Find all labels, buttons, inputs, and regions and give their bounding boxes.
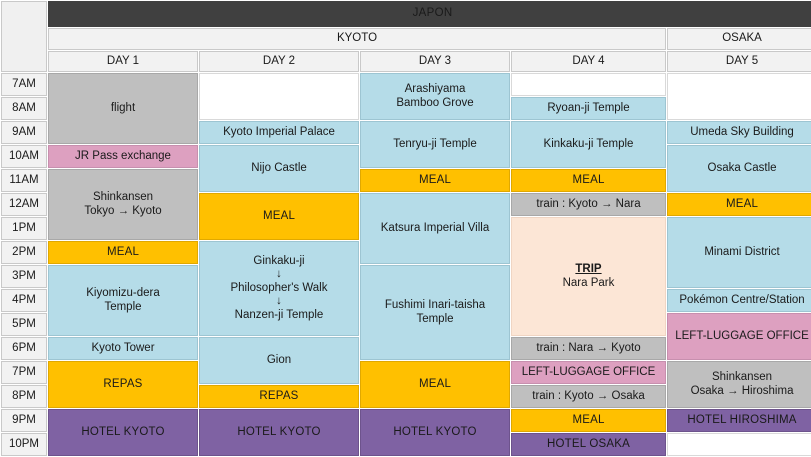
- time-label-8pm: 8PM: [1, 385, 47, 408]
- day5-empty-cell: [667, 433, 811, 456]
- cell-line: Temple: [363, 313, 507, 327]
- day-header-4[interactable]: DAY 4: [511, 51, 666, 72]
- d5-shinkansen[interactable]: ShinkansenOsaka → Hiroshima: [667, 361, 811, 408]
- d5-luggage[interactable]: LEFT-LUGGAGE OFFICE: [667, 313, 811, 360]
- d1-meal1[interactable]: MEAL: [48, 241, 198, 264]
- d5-minami[interactable]: Minami District: [667, 217, 811, 288]
- d1-hotel[interactable]: HOTEL KYOTO: [48, 409, 198, 456]
- cell-line: Arashiyama: [363, 83, 507, 97]
- time-label-8am: 8AM: [1, 97, 47, 120]
- time-label-2pm: 2PM: [1, 241, 47, 264]
- d4-train2[interactable]: train : Nara → Kyoto: [511, 337, 666, 360]
- time-label-5pm: 5PM: [1, 313, 47, 336]
- day-header-3[interactable]: DAY 3: [360, 51, 510, 72]
- d3-meal1[interactable]: MEAL: [360, 169, 510, 192]
- time-label-7am: 7AM: [1, 73, 47, 96]
- travel-itinerary-planner: JAPONKYOTOOSAKADAY 1DAY 2DAY 3DAY 4DAY 5…: [0, 0, 811, 438]
- time-label-9pm: 9PM: [1, 409, 47, 432]
- d1-jrpass[interactable]: JR Pass exchange: [48, 145, 198, 168]
- d1-kyototower[interactable]: Kyoto Tower: [48, 337, 198, 360]
- cell-line: Philosopher's Walk: [202, 282, 356, 296]
- header-row-regions: KYOTOOSAKA: [1, 28, 811, 50]
- day-header-5[interactable]: DAY 5: [667, 51, 811, 72]
- d4-empty: [511, 73, 666, 96]
- d5-hotel[interactable]: HOTEL HIROSHIMA: [667, 409, 811, 432]
- cell-line: Osaka → Hiroshima: [670, 385, 811, 399]
- d2-empty: [199, 73, 359, 120]
- time-label-11am: 11AM: [1, 169, 47, 192]
- d3-katsura[interactable]: Katsura Imperial Villa: [360, 193, 510, 264]
- cell-line: ↓: [202, 268, 356, 282]
- region-label-osaka: OSAKA: [667, 28, 811, 50]
- cell-line: Bamboo Grove: [363, 97, 507, 111]
- cell-line: Nanzen-ji Temple: [202, 309, 356, 323]
- schedule-row: 9PMHOTEL KYOTOHOTEL KYOTOHOTEL KYOTOMEAL…: [1, 409, 811, 432]
- schedule-row: 7PMREPASMEALLEFT-LUGGAGE OFFICEShinkanse…: [1, 361, 811, 384]
- d3-fushimi[interactable]: Fushimi Inari-taishaTemple: [360, 265, 510, 360]
- d5-pokemon[interactable]: Pokémon Centre/Station: [667, 289, 811, 312]
- time-label-6pm: 6PM: [1, 337, 47, 360]
- d1-kiyomizu[interactable]: Kiyomizu-deraTemple: [48, 265, 198, 336]
- d1-shinkansen[interactable]: ShinkansenTokyo → Kyoto: [48, 169, 198, 240]
- d4-hotel[interactable]: HOTEL OSAKA: [511, 433, 666, 456]
- time-label-12am: 12AM: [1, 193, 47, 216]
- time-label-4pm: 4PM: [1, 289, 47, 312]
- d4-train3[interactable]: train : Kyoto → Osaka: [511, 385, 666, 408]
- d4-meal2[interactable]: MEAL: [511, 409, 666, 432]
- d4-kinkakuji[interactable]: Kinkaku-ji Temple: [511, 121, 666, 168]
- d3-tenryuji[interactable]: Tenryu-ji Temple: [360, 121, 510, 168]
- header-row-title: JAPON: [1, 1, 811, 27]
- cell-line: Shinkansen: [670, 371, 811, 385]
- d4-trip[interactable]: TRIPNara Park: [511, 217, 666, 336]
- cell-line: Shinkansen: [51, 191, 195, 205]
- d4-meal1[interactable]: MEAL: [511, 169, 666, 192]
- d4-luggage[interactable]: LEFT-LUGGAGE OFFICE: [511, 361, 666, 384]
- planner-title: JAPON: [48, 1, 811, 27]
- d2-nijo[interactable]: Nijo Castle: [199, 145, 359, 192]
- schedule-row: 7AMflightArashiyamaBamboo Grove: [1, 73, 811, 96]
- cell-line: Tokyo → Kyoto: [51, 205, 195, 219]
- trip-heading: TRIP: [514, 263, 663, 277]
- d5-castle[interactable]: Osaka Castle: [667, 145, 811, 192]
- trip-destination: Nara Park: [514, 277, 663, 291]
- d2-gion[interactable]: Gion: [199, 337, 359, 384]
- day-header-1[interactable]: DAY 1: [48, 51, 198, 72]
- d3-meal2[interactable]: MEAL: [360, 361, 510, 408]
- d4-train1[interactable]: train : Kyoto → Nara: [511, 193, 666, 216]
- day-header-2[interactable]: DAY 2: [199, 51, 359, 72]
- time-label-10pm: 10PM: [1, 433, 47, 456]
- cell-line: Kiyomizu-dera: [51, 287, 195, 301]
- d1-repas[interactable]: REPAS: [48, 361, 198, 408]
- time-label-9am: 9AM: [1, 121, 47, 144]
- d2-meal[interactable]: MEAL: [199, 193, 359, 240]
- header-row-days: DAY 1DAY 2DAY 3DAY 4DAY 5: [1, 51, 811, 72]
- time-label-7pm: 7PM: [1, 361, 47, 384]
- schedule-table: JAPONKYOTOOSAKADAY 1DAY 2DAY 3DAY 4DAY 5…: [0, 0, 811, 457]
- time-label-1pm: 1PM: [1, 217, 47, 240]
- d5-umeda[interactable]: Umeda Sky Building: [667, 121, 811, 144]
- cell-line: Ginkaku-ji: [202, 255, 356, 269]
- d2-repas[interactable]: REPAS: [199, 385, 359, 408]
- d5-meal[interactable]: MEAL: [667, 193, 811, 216]
- cell-line: ↓: [202, 295, 356, 309]
- d2-hotel[interactable]: HOTEL KYOTO: [199, 409, 359, 456]
- d5-empty: [667, 73, 811, 120]
- time-label-10am: 10AM: [1, 145, 47, 168]
- cell-line: Fushimi Inari-taisha: [363, 299, 507, 313]
- d2-palace[interactable]: Kyoto Imperial Palace: [199, 121, 359, 144]
- region-label-kyoto: KYOTO: [48, 28, 666, 50]
- corner-blank-cell: [1, 1, 47, 72]
- d2-walk[interactable]: Ginkaku-ji↓Philosopher's Walk↓Nanzen-ji …: [199, 241, 359, 336]
- cell-line: Temple: [51, 301, 195, 315]
- d3-bamboo[interactable]: ArashiyamaBamboo Grove: [360, 73, 510, 120]
- d3-hotel[interactable]: HOTEL KYOTO: [360, 409, 510, 456]
- d4-ryoanji[interactable]: Ryoan-ji Temple: [511, 97, 666, 120]
- d1-flight[interactable]: flight: [48, 73, 198, 144]
- time-label-3pm: 3PM: [1, 265, 47, 288]
